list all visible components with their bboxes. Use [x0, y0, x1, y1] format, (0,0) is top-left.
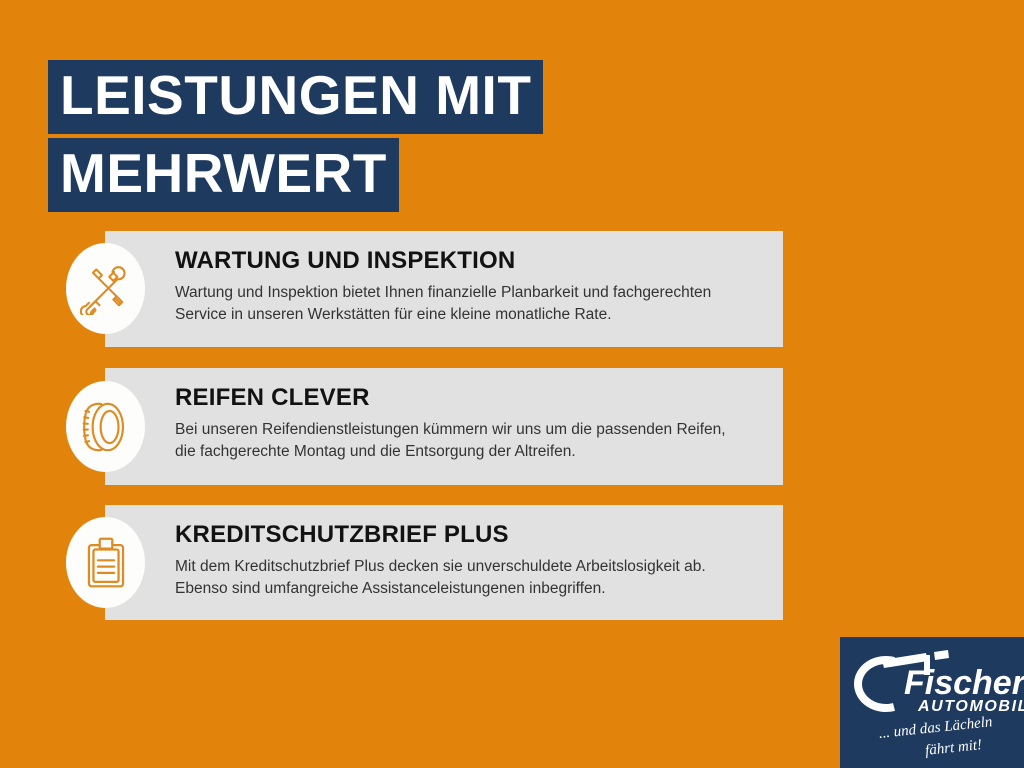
card-description: Bei unseren Reifendienstleistungen kümme…	[175, 419, 761, 464]
logo-tagline-line-2: fährt mit!	[924, 737, 982, 759]
card-content: KREDITSCHUTZBRIEF PLUS Mit dem Kreditsch…	[105, 505, 783, 617]
logo-tagline: ... und das Lächeln fährt mit!	[840, 713, 1024, 761]
service-card-wartung[interactable]: WARTUNG UND INSPEKTION Wartung und Inspe…	[105, 231, 783, 347]
card-description: Wartung und Inspektion bietet Ihnen fina…	[175, 282, 761, 327]
card-description-line-2: Service in unseren Werkstätten für eine …	[175, 304, 761, 326]
card-title: KREDITSCHUTZBRIEF PLUS	[175, 521, 761, 549]
clipboard-icon	[66, 517, 145, 608]
card-title: REIFEN CLEVER	[175, 384, 761, 412]
card-description-line-1: Bei unseren Reifendienstleistungen kümme…	[175, 419, 761, 441]
service-card-kreditschutzbrief[interactable]: KREDITSCHUTZBRIEF PLUS Mit dem Kreditsch…	[105, 505, 783, 620]
title-line-2: MEHRWERT	[48, 138, 399, 212]
fischer-automobile-logo[interactable]: Fischer AUTOMOBILE ... und das Lächeln f…	[840, 637, 1024, 768]
service-card-reifen[interactable]: REIFEN CLEVER Bei unseren Reifendienstle…	[105, 368, 783, 485]
card-content: REIFEN CLEVER Bei unseren Reifendienstle…	[105, 368, 783, 480]
card-title: WARTUNG UND INSPEKTION	[175, 247, 761, 275]
title-line-1: LEISTUNGEN MIT	[48, 60, 543, 134]
logo-wordmark: Fischer AUTOMOBILE	[848, 647, 1024, 719]
logo-brand-text: Fischer	[904, 664, 1024, 702]
card-description: Mit dem Kreditschutzbrief Plus decken si…	[175, 556, 761, 601]
card-description-line-2: Ebenso sind umfangreiche Assistanceleist…	[175, 578, 761, 600]
tire-icon	[66, 381, 145, 472]
poster-canvas: LEISTUNGEN MIT MEHRWERT WARTUNG UND INSP…	[0, 0, 1024, 768]
card-description-line-1: Mit dem Kreditschutzbrief Plus decken si…	[175, 556, 761, 578]
wrench-screwdriver-icon	[66, 243, 145, 334]
card-description-line-1: Wartung und Inspektion bietet Ihnen fina…	[175, 282, 761, 304]
card-description-line-2: die fachgerechte Montag und die Entsorgu…	[175, 441, 761, 463]
page-title: LEISTUNGEN MIT MEHRWERT	[48, 60, 543, 212]
card-content: WARTUNG UND INSPEKTION Wartung und Inspe…	[105, 231, 783, 343]
